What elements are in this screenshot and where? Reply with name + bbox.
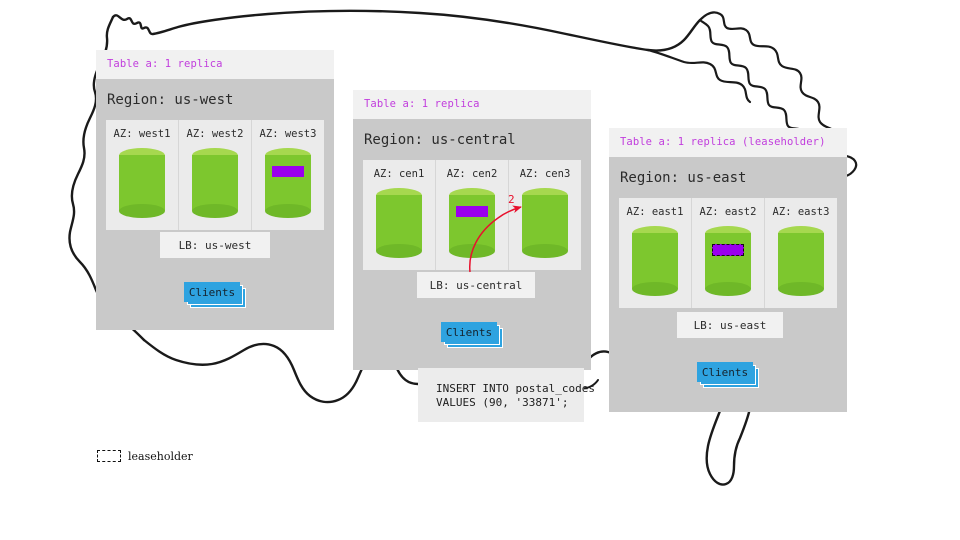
clients-label-us-east: Clients bbox=[702, 367, 748, 378]
region-panel-us-west: Table a: 1 replica Region: us-west AZ: w… bbox=[96, 50, 334, 330]
region-header-us-central: Table a: 1 replica bbox=[353, 90, 591, 119]
region-panel-us-central: Table a: 1 replica Region: us-central AZ… bbox=[353, 90, 591, 370]
replica-chunk-cen2 bbox=[456, 206, 488, 217]
clients-label-us-central: Clients bbox=[446, 327, 492, 338]
node-cylinder-cen1 bbox=[376, 188, 422, 258]
clients-button-us-west[interactable]: Clients bbox=[184, 282, 240, 302]
az-cell-cen1[interactable]: AZ: cen1 bbox=[363, 160, 435, 270]
legend-label: leaseholder bbox=[128, 451, 193, 462]
sql-statement-box: INSERT INTO postal_codes VALUES (90, '33… bbox=[418, 368, 584, 422]
az-container-us-central: AZ: cen1 AZ: cen2 AZ: cen3 bbox=[363, 160, 581, 270]
node-cylinder-west1 bbox=[119, 148, 165, 218]
az-cell-east1[interactable]: AZ: east1 bbox=[619, 198, 691, 308]
annotation-step-label: 2 bbox=[508, 194, 515, 205]
clients-stack-us-east[interactable]: Clients bbox=[697, 362, 765, 390]
node-cylinder-west3 bbox=[265, 148, 311, 218]
az-label-west2: AZ: west2 bbox=[179, 129, 251, 140]
az-label-cen2: AZ: cen2 bbox=[436, 169, 508, 180]
region-header-us-west: Table a: 1 replica bbox=[96, 50, 334, 79]
az-container-us-east: AZ: east1 AZ: east2 AZ: east3 bbox=[619, 198, 837, 308]
replica-chunk-west3 bbox=[272, 166, 304, 177]
region-title-us-east: Region: us-east bbox=[609, 157, 847, 198]
diagram-canvas: Table a: 1 replica Region: us-west AZ: w… bbox=[0, 0, 960, 540]
az-label-east1: AZ: east1 bbox=[619, 207, 691, 218]
clients-button-us-central[interactable]: Clients bbox=[441, 322, 497, 342]
az-label-east3: AZ: east3 bbox=[765, 207, 837, 218]
node-cylinder-cen3 bbox=[522, 188, 568, 258]
clients-label-us-west: Clients bbox=[189, 287, 235, 298]
load-balancer-us-west[interactable]: LB: us-west bbox=[160, 232, 270, 258]
az-cell-west1[interactable]: AZ: west1 bbox=[106, 120, 178, 230]
az-container-us-west: AZ: west1 AZ: west2 AZ: west3 bbox=[106, 120, 324, 230]
az-label-cen1: AZ: cen1 bbox=[363, 169, 435, 180]
az-label-cen3: AZ: cen3 bbox=[509, 169, 581, 180]
region-title-us-west: Region: us-west bbox=[96, 79, 334, 120]
region-title-us-central: Region: us-central bbox=[353, 119, 591, 160]
clients-stack-us-central[interactable]: Clients bbox=[441, 322, 509, 350]
legend: leaseholder bbox=[97, 450, 193, 462]
region-panel-us-east: Table a: 1 replica (leaseholder) Region:… bbox=[609, 128, 847, 412]
az-label-east2: AZ: east2 bbox=[692, 207, 764, 218]
node-cylinder-west2 bbox=[192, 148, 238, 218]
load-balancer-label-us-west: LB: us-west bbox=[179, 240, 252, 251]
clients-stack-us-west[interactable]: Clients bbox=[184, 282, 252, 310]
node-cylinder-east1 bbox=[632, 226, 678, 296]
az-cell-cen3[interactable]: AZ: cen3 bbox=[508, 160, 581, 270]
load-balancer-us-east[interactable]: LB: us-east bbox=[677, 312, 783, 338]
node-cylinder-east3 bbox=[778, 226, 824, 296]
az-cell-east3[interactable]: AZ: east3 bbox=[764, 198, 837, 308]
region-header-us-east: Table a: 1 replica (leaseholder) bbox=[609, 128, 847, 157]
az-cell-west3[interactable]: AZ: west3 bbox=[251, 120, 324, 230]
sql-line-2: VALUES (90, '33871'; bbox=[436, 396, 568, 409]
load-balancer-label-us-central: LB: us-central bbox=[430, 280, 523, 291]
az-cell-east2[interactable]: AZ: east2 bbox=[691, 198, 764, 308]
node-cylinder-east2 bbox=[705, 226, 751, 296]
clients-button-us-east[interactable]: Clients bbox=[697, 362, 753, 382]
az-cell-cen2[interactable]: AZ: cen2 bbox=[435, 160, 508, 270]
load-balancer-label-us-east: LB: us-east bbox=[694, 320, 767, 331]
load-balancer-us-central[interactable]: LB: us-central bbox=[417, 272, 535, 298]
az-label-west1: AZ: west1 bbox=[106, 129, 178, 140]
node-cylinder-cen2 bbox=[449, 188, 495, 258]
az-cell-west2[interactable]: AZ: west2 bbox=[178, 120, 251, 230]
dashed-rectangle-icon bbox=[97, 450, 121, 462]
sql-line-1: INSERT INTO postal_codes bbox=[436, 382, 595, 395]
az-label-west3: AZ: west3 bbox=[252, 129, 324, 140]
replica-chunk-east2-leaseholder bbox=[712, 244, 744, 256]
